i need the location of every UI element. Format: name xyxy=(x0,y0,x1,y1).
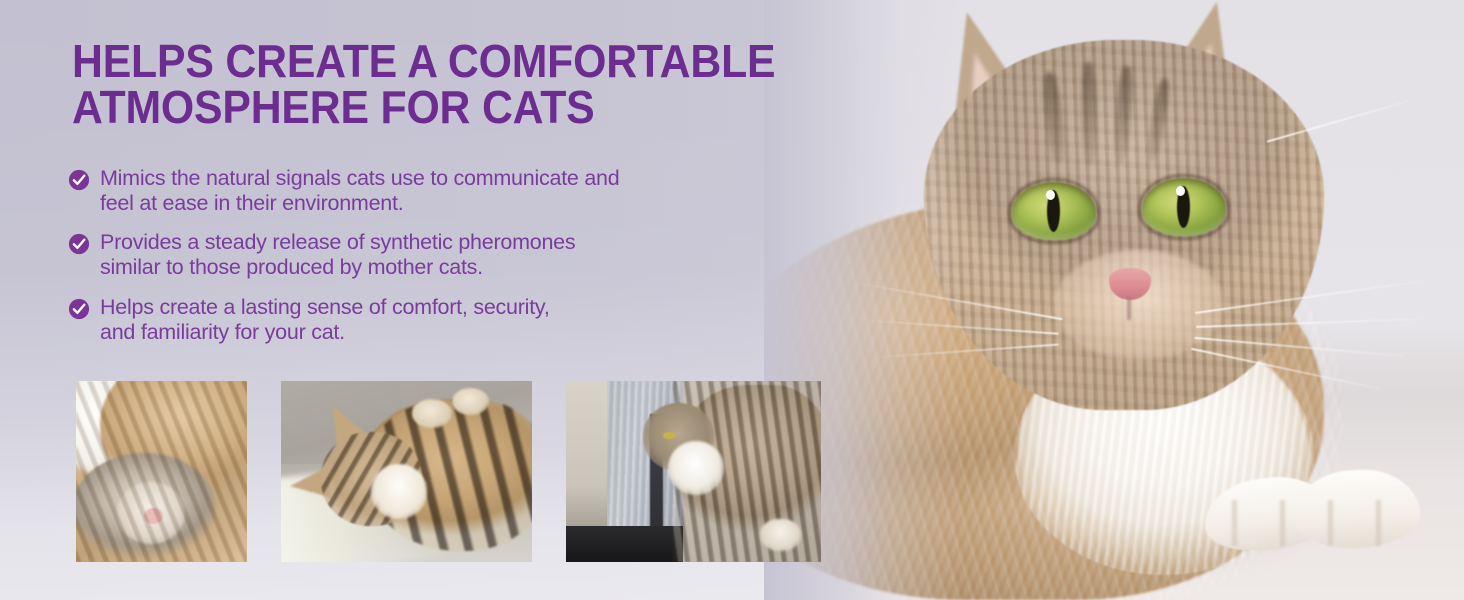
cat-philtrum-line xyxy=(1127,298,1131,320)
check-circle-icon xyxy=(68,298,90,320)
check-circle-icon xyxy=(68,233,90,255)
thumb-cat-eye xyxy=(663,432,676,439)
product-benefits-banner: HELPS CREATE A COMFORTABLE ATMOSPHERE FO… xyxy=(0,0,1464,600)
thumbnail-gallery xyxy=(76,381,821,562)
thumbnail-cat-grooming-kitten xyxy=(76,381,247,562)
cat-paw-toe-lines xyxy=(1209,500,1419,546)
thumb-dark-trousers xyxy=(566,526,683,562)
cat-muzzle xyxy=(1054,250,1224,360)
list-item: Helps create a lasting sense of comfort,… xyxy=(68,295,828,345)
content-column: HELPS CREATE A COMFORTABLE ATMOSPHERE FO… xyxy=(0,0,880,600)
thumb-cat-chin xyxy=(371,464,426,518)
thumb-fur-texture xyxy=(76,381,247,562)
benefit-text: Helps create a lasting sense of comfort,… xyxy=(100,295,550,345)
check-circle-icon xyxy=(68,169,90,191)
cat-eye-glint-left xyxy=(1046,190,1055,200)
thumb-cat-paw xyxy=(760,519,801,552)
thumbnail-cat-lying-in-sunlight xyxy=(281,381,532,562)
thumbnail-cat-rubbing-against-leg xyxy=(566,381,821,562)
benefit-text: Provides a steady release of synthetic p… xyxy=(100,230,575,280)
thumb-cat-chest xyxy=(668,441,724,495)
list-item: Mimics the natural signals cats use to c… xyxy=(68,166,828,216)
page-title: HELPS CREATE A COMFORTABLE ATMOSPHERE FO… xyxy=(72,38,816,130)
benefit-text: Mimics the natural signals cats use to c… xyxy=(100,166,619,216)
cat-eye-glint-right xyxy=(1176,186,1185,196)
thumb-cat-paw xyxy=(412,399,452,428)
list-item: Provides a steady release of synthetic p… xyxy=(68,230,828,280)
benefits-list: Mimics the natural signals cats use to c… xyxy=(68,166,828,359)
